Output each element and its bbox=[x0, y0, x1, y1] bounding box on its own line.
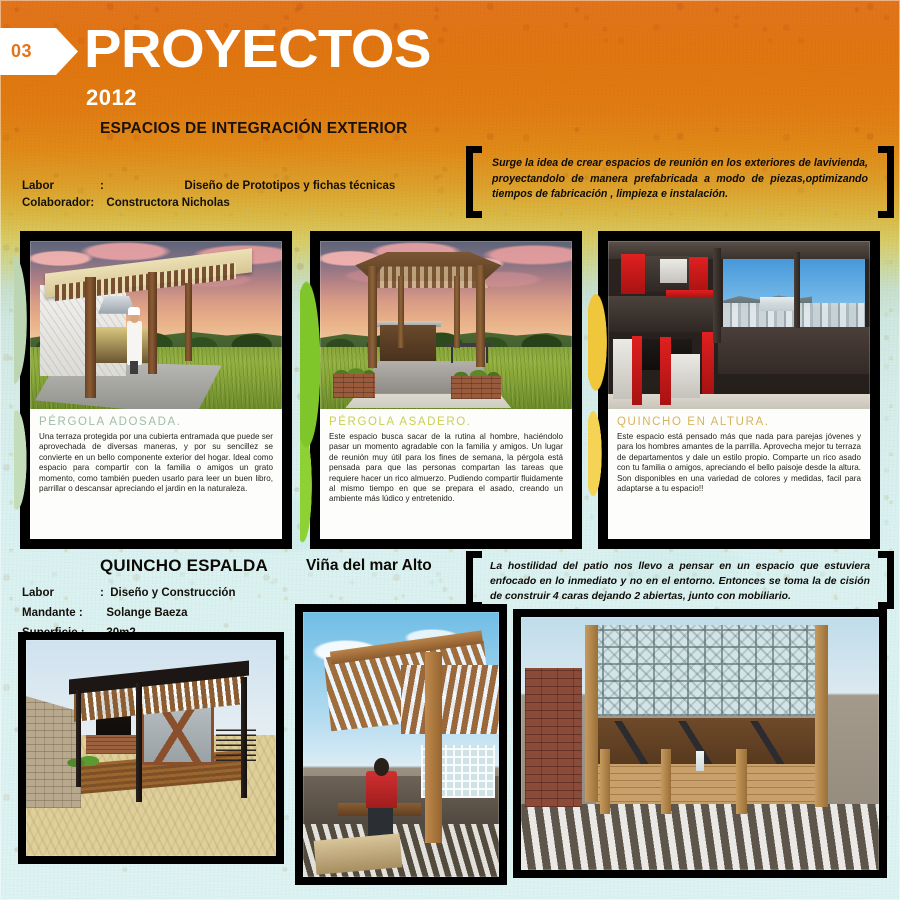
project-caption: PÉRGOLA ADOSADA. Una terraza protegida p… bbox=[30, 409, 282, 539]
planting-bed bbox=[66, 752, 99, 769]
chef-figure-legs bbox=[130, 361, 139, 374]
lower-image-frame-glassblock[interactable] bbox=[513, 609, 887, 878]
structural-column bbox=[713, 248, 721, 343]
lower-image-frame-construction[interactable] bbox=[295, 604, 507, 885]
project-panel-pergola-adosada[interactable]: PÉRGOLA ADOSADA. Una terraza protegida p… bbox=[20, 231, 292, 549]
white-cabinet bbox=[613, 339, 631, 399]
pergola-post bbox=[85, 277, 96, 397]
pergola-slats-secondary bbox=[401, 665, 499, 734]
project-heading: PÉRGOLA ADOSADA. bbox=[39, 416, 273, 428]
chef-figure-hat bbox=[128, 307, 140, 314]
gazebo-post bbox=[476, 265, 485, 367]
project-heading: QUINCHO EN ALTURA. bbox=[617, 416, 861, 428]
lower-project-title: QUINCHO ESPALDA bbox=[100, 556, 268, 576]
lower-image-frame-render[interactable] bbox=[18, 632, 284, 864]
project-image-quincho-en-altura bbox=[608, 241, 870, 423]
red-shelf bbox=[666, 290, 713, 298]
project-body: Una terraza protegida por una cubierta e… bbox=[39, 432, 273, 494]
meta-value: Diseño de Prototipos y fichas técnicas bbox=[184, 178, 395, 195]
counter-cabinet bbox=[380, 325, 435, 361]
project-body: Este espacio busca sacar de la rutina al… bbox=[329, 432, 563, 505]
steel-brace bbox=[607, 721, 657, 767]
project-body: Este espacio está pensado más que nada p… bbox=[617, 432, 861, 494]
bench-leg bbox=[451, 347, 453, 363]
worker-torso bbox=[366, 771, 397, 808]
lower-image-glass-block-wall bbox=[521, 617, 879, 870]
chef-figure-head bbox=[130, 314, 139, 323]
gazebo-post bbox=[368, 266, 377, 368]
chef-figure-body bbox=[127, 321, 142, 365]
red-cabinet bbox=[689, 257, 707, 293]
lower-description-text: La hostilidad del patio nos llevo a pens… bbox=[466, 551, 894, 612]
timber-post bbox=[585, 625, 597, 802]
timber-post bbox=[736, 749, 747, 815]
bench-leg bbox=[486, 347, 488, 363]
pergola-post bbox=[185, 283, 192, 361]
brick-planter bbox=[333, 374, 376, 398]
brick-pillar bbox=[525, 668, 582, 807]
project-heading: PÉRGOLA ASADERO. bbox=[329, 416, 563, 428]
meta-value: Diseño y Construcción bbox=[110, 583, 235, 603]
red-cabinet bbox=[621, 254, 645, 294]
lower-image-quincho-render bbox=[26, 640, 276, 856]
post bbox=[76, 690, 81, 787]
lower-description-callout: La hostilidad del patio nos llevo a pens… bbox=[466, 551, 894, 609]
meta-value: Solange Baeza bbox=[106, 603, 187, 623]
meta-label: Labor bbox=[22, 583, 100, 603]
project-caption: QUINCHO EN ALTURA. Este espacio está pen… bbox=[608, 409, 870, 539]
gazebo-roof-slats bbox=[368, 266, 489, 288]
lower-image-construction-worker bbox=[303, 612, 499, 877]
handrail bbox=[216, 726, 256, 761]
meta-row: Labor: Diseño y Construcción bbox=[22, 583, 235, 603]
meta-separator: : bbox=[100, 587, 104, 599]
post bbox=[241, 677, 247, 798]
glass-block-wall bbox=[585, 625, 821, 716]
page-title: PROYECTOS bbox=[84, 22, 431, 76]
project-image-pergola-adosada bbox=[30, 241, 282, 423]
lower-project-location: Viña del mar Alto bbox=[306, 557, 432, 575]
red-cabinet bbox=[632, 336, 642, 405]
portfolio-page: 03 PROYECTOS 2012 ESPACIOS DE INTEGRACIÓ… bbox=[0, 0, 900, 900]
white-cabinet bbox=[671, 354, 700, 398]
top-description-text: Surge la idea de crear espacios de reuni… bbox=[466, 146, 894, 213]
section-number-label: 03 bbox=[0, 41, 32, 62]
meta-value: Constructora Nicholas bbox=[106, 195, 229, 212]
meta-separator: : bbox=[100, 178, 178, 195]
timber-post bbox=[600, 749, 611, 815]
page-year: 2012 bbox=[86, 85, 137, 111]
white-cabinet bbox=[660, 259, 686, 283]
project-image-pergola-asadero bbox=[320, 241, 572, 423]
dark-cabinetry bbox=[608, 296, 713, 332]
meta-row: Colaborador: Constructora Nicholas bbox=[22, 195, 395, 212]
red-cabinet bbox=[660, 337, 670, 404]
project-panel-quincho-en-altura[interactable]: QUINCHO EN ALTURA. Este espacio está pen… bbox=[598, 231, 880, 549]
timber-column bbox=[425, 652, 443, 843]
meta-label: Colaborador: bbox=[22, 195, 100, 212]
gazebo-post bbox=[454, 276, 460, 349]
meta-label: Mandante : bbox=[22, 603, 100, 623]
meta-row: Labor: Diseño de Prototipos y fichas téc… bbox=[22, 178, 395, 195]
project-panel-pergola-asadero[interactable]: PÉRGOLA ASADERO. Este espacio busca saca… bbox=[310, 231, 582, 549]
timber-post bbox=[815, 625, 829, 807]
project-caption: PÉRGOLA ASADERO. Este espacio busca saca… bbox=[320, 409, 572, 539]
meta-row: Mandante : Solange Baeza bbox=[22, 603, 235, 623]
pergola-post bbox=[148, 272, 157, 374]
top-meta-list: Labor: Diseño de Prototipos y fichas téc… bbox=[22, 178, 395, 212]
brick-planter bbox=[451, 376, 501, 400]
structural-column bbox=[794, 252, 800, 328]
gazebo-post bbox=[398, 276, 404, 349]
page-subtitle: ESPACIOS DE INTEGRACIÓN EXTERIOR bbox=[100, 120, 408, 138]
balcony-parapet bbox=[718, 327, 870, 374]
timber-post bbox=[661, 749, 672, 815]
top-description-callout: Surge la idea de crear espacios de reuni… bbox=[466, 146, 894, 218]
timber-low-wall bbox=[596, 764, 825, 810]
shadowed-deck bbox=[521, 804, 879, 870]
steel-brace bbox=[743, 721, 793, 767]
meta-label: Labor bbox=[22, 178, 100, 195]
post bbox=[136, 683, 142, 802]
water-bottle bbox=[696, 751, 704, 771]
